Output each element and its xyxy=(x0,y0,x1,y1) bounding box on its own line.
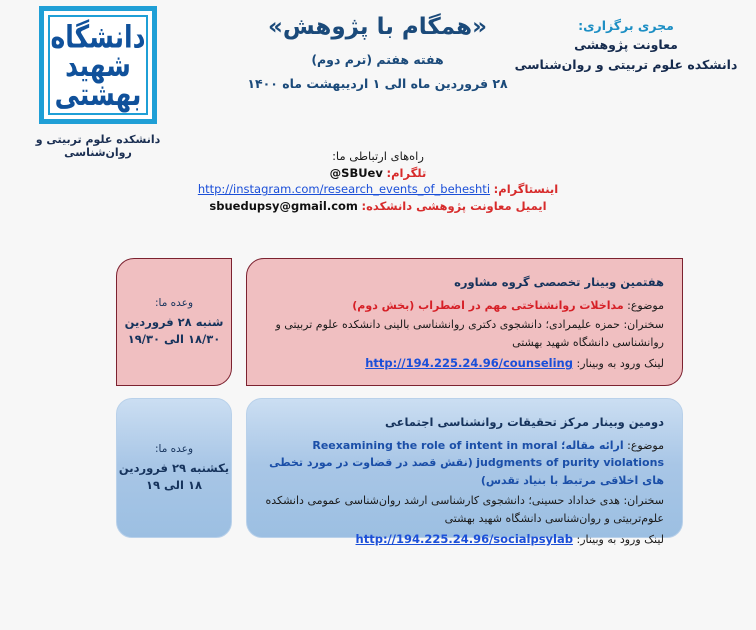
event-2-schedule-day: یکشنبه ۲۹ فروردین xyxy=(119,460,229,477)
contact-row-telegram: تلگرام: @SBUev xyxy=(0,165,756,182)
page-title: «همگام با پژوهش» xyxy=(205,14,550,40)
event-1-topic-label: موضوع: xyxy=(627,299,664,312)
event-2-speaker-label: سخنران: xyxy=(623,494,664,507)
date-range: ۲۸ فروردین ماه الی ۱ اردیبهشت ماه ۱۴۰۰ xyxy=(205,76,550,91)
page-subtitle: هفته هفتم (ترم دوم) xyxy=(205,52,550,67)
telegram-label: تلگرام: xyxy=(387,166,427,180)
event-1-schedule-label: وعده ما: xyxy=(155,296,193,312)
poster-page: دانشگاه شهید بهشتی دانشکده علوم تربیتی و… xyxy=(0,0,756,630)
event-1-schedule-time: ۱۸/۳۰ الی ۱۹/۳۰ xyxy=(128,331,220,348)
instagram-label: اینستاگرام: xyxy=(494,182,558,196)
event-1-topic-text: مداخلات روانشناختی مهم در اضطراب (بخش دو… xyxy=(352,299,623,312)
event-2-speaker-text: هدی خداداد حسینی؛ دانشجوی کارشناسی ارشد … xyxy=(266,494,665,525)
telegram-handle[interactable]: @SBUev xyxy=(330,166,383,180)
event-1-speaker-label: سخنران: xyxy=(623,318,664,331)
university-logo-icon: دانشگاه شهید بهشتی xyxy=(39,6,157,124)
contact-row-instagram: اینستاگرام: http://instagram.com/researc… xyxy=(0,181,756,198)
event-2-link-label: لینک ورود به وبینار: xyxy=(576,533,664,546)
organizer-line-1: معاونت پژوهشی xyxy=(506,35,746,54)
event-card-2: دومین وبینار مرکز تحقیقات روانشناسی اجتم… xyxy=(116,398,683,538)
event-2-title: دومین وبینار مرکز تحقیقات روانشناسی اجتم… xyxy=(265,413,664,432)
event-2-webinar-link[interactable]: http://194.225.24.96/socialpsylab xyxy=(356,532,573,546)
event-2-link-row: لینک ورود به وبینار: http://194.225.24.9… xyxy=(265,530,664,549)
event-1-schedule-day: شنبه ۲۸ فروردین xyxy=(125,314,224,331)
event-2-speaker: سخنران: هدی خداداد حسینی؛ دانشجوی کارشنا… xyxy=(265,492,664,528)
event-1-link-row: لینک ورود به وبینار: http://194.225.24.9… xyxy=(265,354,664,373)
event-1-link-label: لینک ورود به وبینار: xyxy=(576,357,664,370)
contact-row-email: ایمیل معاونت پژوهشی دانشکده: sbuedupsy@g… xyxy=(0,198,756,215)
instagram-link[interactable]: http://instagram.com/research_events_of_… xyxy=(198,182,490,196)
event-1-webinar-link[interactable]: http://194.225.24.96/counseling xyxy=(365,356,573,370)
logo-calligraphy-text: دانشگاه شهید بهشتی xyxy=(44,22,152,108)
organizer-line-2: دانشکده علوم تربیتی و روان‌شناسی xyxy=(506,55,746,74)
event-1-speaker-text: حمزه علیمرادی؛ دانشجوی دکتری روانشناسی ب… xyxy=(275,318,664,349)
event-1-title: هفتمین وبینار تخصصی گروه مشاوره xyxy=(265,273,664,292)
event-1-details: هفتمین وبینار تخصصی گروه مشاوره موضوع: م… xyxy=(246,258,683,386)
event-2-topic-label: موضوع: xyxy=(627,439,664,452)
university-logo-block: دانشگاه شهید بهشتی دانشکده علوم تربیتی و… xyxy=(8,6,188,159)
event-2-topic-prefix: ارائه مقاله؛ xyxy=(561,439,624,452)
event-2-details: دومین وبینار مرکز تحقیقات روانشناسی اجتم… xyxy=(246,398,683,538)
event-2-schedule: وعده ما: یکشنبه ۲۹ فروردین ۱۸ الی ۱۹ xyxy=(116,398,232,538)
event-1-speaker: سخنران: حمزه علیمرادی؛ دانشجوی دکتری روا… xyxy=(265,316,664,352)
email-address[interactable]: sbuedupsy@gmail.com xyxy=(209,199,357,213)
contact-block: راه‌های ارتباطی ما: تلگرام: @SBUev اینست… xyxy=(0,148,756,215)
event-1-topic: موضوع: مداخلات روانشناختی مهم در اضطراب … xyxy=(265,297,664,315)
event-2-topic: موضوع: ارائه مقاله؛ Reexamining the role… xyxy=(265,437,664,490)
contact-heading: راه‌های ارتباطی ما: xyxy=(0,148,756,165)
event-card-1: هفتمین وبینار تخصصی گروه مشاوره موضوع: م… xyxy=(116,258,683,386)
title-block: «همگام با پژوهش» هفته هفتم (ترم دوم) ۲۸ … xyxy=(205,14,550,91)
event-2-schedule-time: ۱۸ الی ۱۹ xyxy=(146,477,202,494)
event-1-schedule: وعده ما: شنبه ۲۸ فروردین ۱۸/۳۰ الی ۱۹/۳۰ xyxy=(116,258,232,386)
event-2-schedule-label: وعده ما: xyxy=(155,442,193,458)
email-label: ایمیل معاونت پژوهشی دانشکده: xyxy=(362,199,547,213)
organizer-block: مجری برگزاری: معاونت پژوهشی دانشکده علوم… xyxy=(506,16,746,74)
organizer-label: مجری برگزاری: xyxy=(506,16,746,35)
